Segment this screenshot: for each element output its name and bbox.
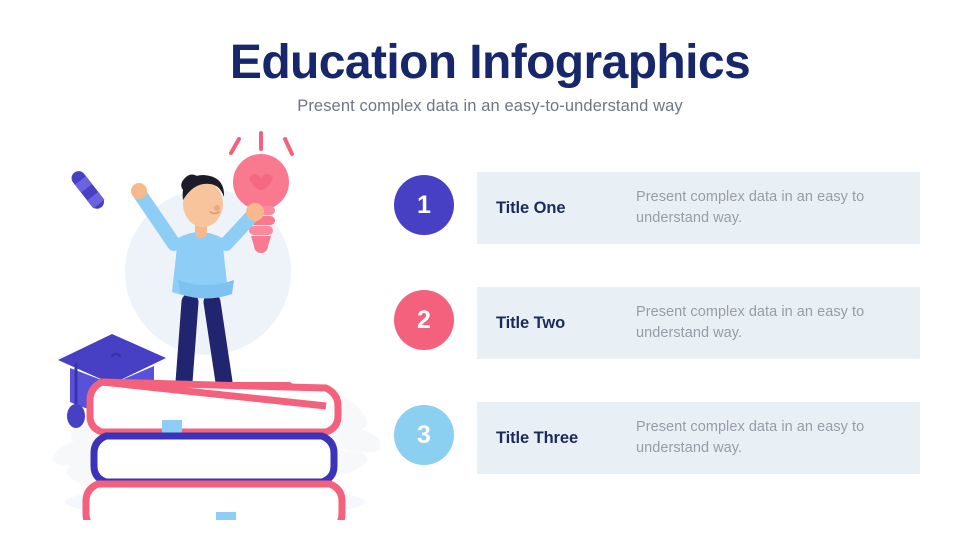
book-stack — [86, 382, 342, 520]
row-number-badge[interactable]: 3 — [394, 405, 454, 465]
row-number-label: 3 — [417, 421, 431, 450]
row-card[interactable]: Title Two Present complex data in an eas… — [477, 287, 920, 359]
row-card[interactable]: Title Three Present complex data in an e… — [477, 402, 920, 474]
row-title: Title One — [496, 199, 636, 218]
infographic-row[interactable]: Title Three Present complex data in an e… — [394, 402, 934, 474]
row-number-badge[interactable]: 2 — [394, 290, 454, 350]
infographic-rows: Title One Present complex data in an eas… — [394, 172, 934, 474]
diploma-scroll — [69, 168, 107, 211]
page-subtitle: Present complex data in an easy-to-under… — [0, 97, 980, 116]
row-number-label: 1 — [417, 191, 431, 220]
page-title: Education Infographics — [0, 38, 980, 88]
header: Education Infographics Present complex d… — [0, 38, 980, 116]
row-title: Title Two — [496, 314, 636, 333]
row-description: Present complex data in an easy to under… — [636, 417, 906, 459]
row-card[interactable]: Title One Present complex data in an eas… — [477, 172, 920, 244]
row-title: Title Three — [496, 429, 636, 448]
row-description: Present complex data in an easy to under… — [636, 302, 906, 344]
row-number-badge[interactable]: 1 — [394, 175, 454, 235]
infographic-row[interactable]: Title Two Present complex data in an eas… — [394, 287, 934, 359]
slide-canvas: Education Infographics Present complex d… — [0, 0, 980, 551]
row-number-label: 2 — [417, 306, 431, 335]
row-description: Present complex data in an easy to under… — [636, 187, 906, 229]
infographic-row[interactable]: Title One Present complex data in an eas… — [394, 172, 934, 244]
graduate-on-books-illustration — [40, 120, 380, 520]
